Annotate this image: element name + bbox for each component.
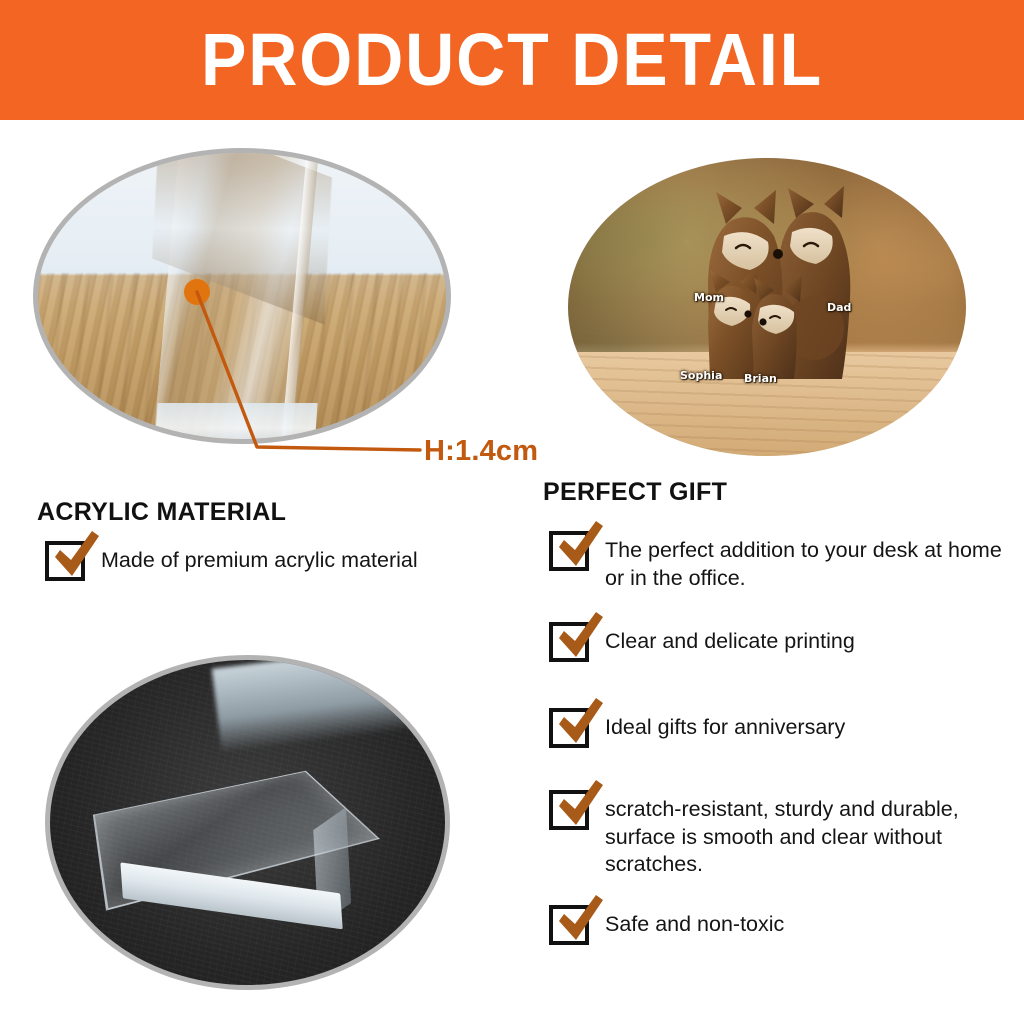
list-item: The perfect addition to your desk at hom… xyxy=(549,531,1011,592)
acrylic-slab-base xyxy=(154,403,317,444)
acrylic-block-photo xyxy=(45,655,450,990)
fox-name-label-dad: Dad xyxy=(827,301,851,314)
list-item-label: Made of premium acrylic material xyxy=(101,541,418,575)
list-item: Clear and delicate printing xyxy=(549,622,1011,662)
checkmark-icon xyxy=(549,622,589,662)
checkmark-icon xyxy=(549,531,589,571)
fox-name-label-sophia: Sophia xyxy=(680,369,722,382)
check-glyph xyxy=(551,611,607,665)
list-item-label: Clear and delicate printing xyxy=(605,622,855,656)
list-item: scratch-resistant, sturdy and durable, s… xyxy=(549,790,1011,879)
page-title: PRODUCT DETAIL xyxy=(201,23,823,97)
checkmark-icon xyxy=(549,790,589,830)
list-item: Safe and non-toxic xyxy=(549,905,1011,945)
section-heading-acrylic-material: ACRYLIC MATERIAL xyxy=(37,498,286,527)
list-item-label: Ideal gifts for anniversary xyxy=(605,708,845,742)
fox-name-label-brian: Brian xyxy=(744,372,777,385)
acrylic-edge-photo xyxy=(33,148,451,444)
list-item-label: scratch-resistant, sturdy and durable, s… xyxy=(605,790,1011,879)
check-glyph xyxy=(551,520,607,574)
checkmark-icon xyxy=(45,541,85,581)
check-glyph xyxy=(47,530,103,584)
fox-sculpture-icon xyxy=(674,174,860,379)
height-callout-label: H:1.4cm xyxy=(424,435,538,468)
section-heading-perfect-gift: PERFECT GIFT xyxy=(543,478,727,507)
checkmark-icon xyxy=(549,905,589,945)
check-glyph xyxy=(551,697,607,751)
header-banner: PRODUCT DETAIL xyxy=(0,0,1024,120)
list-item: Made of premium acrylic material xyxy=(45,541,515,581)
list-item-label: The perfect addition to your desk at hom… xyxy=(605,531,1011,592)
check-glyph xyxy=(551,779,607,833)
fox-family-photo xyxy=(568,158,966,456)
fox-name-label-mom: Mom xyxy=(694,291,724,304)
acrylic-block xyxy=(97,746,359,949)
checkmark-icon xyxy=(549,708,589,748)
list-item: Ideal gifts for anniversary xyxy=(549,708,1011,748)
list-item-label: Safe and non-toxic xyxy=(605,905,784,939)
check-glyph xyxy=(551,894,607,948)
fox-family-sculpture xyxy=(674,174,860,379)
